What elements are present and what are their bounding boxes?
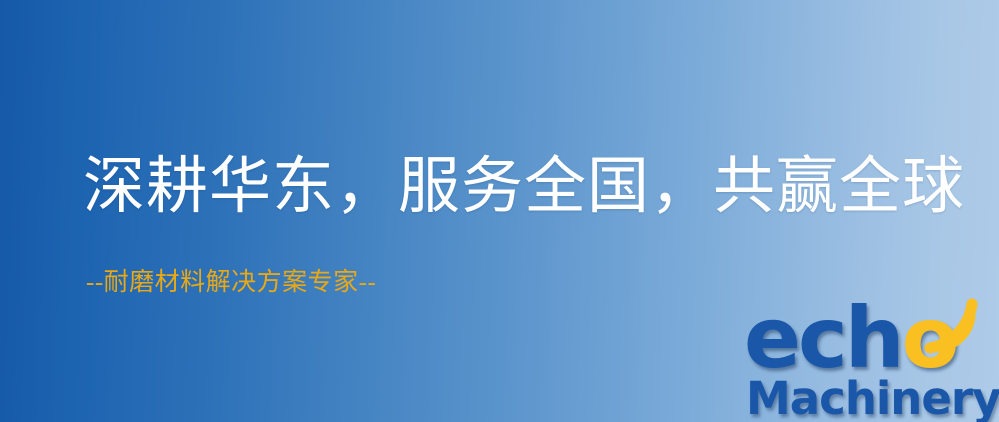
company-logo[interactable]: echo Machinery® bbox=[744, 296, 999, 422]
promotional-banner: 深耕华东，服务全国，共赢全球 --耐磨材料解决方案专家-- echo Machi… bbox=[0, 0, 999, 422]
signal-arcs-icon bbox=[924, 292, 994, 356]
logo-subword-text: Machinery bbox=[746, 372, 999, 422]
logo-subword: Machinery® bbox=[746, 370, 999, 422]
banner-subtitle: --耐磨材料解决方案专家-- bbox=[86, 268, 376, 298]
banner-headline: 深耕华东，服务全国，共赢全球 bbox=[83, 152, 943, 222]
